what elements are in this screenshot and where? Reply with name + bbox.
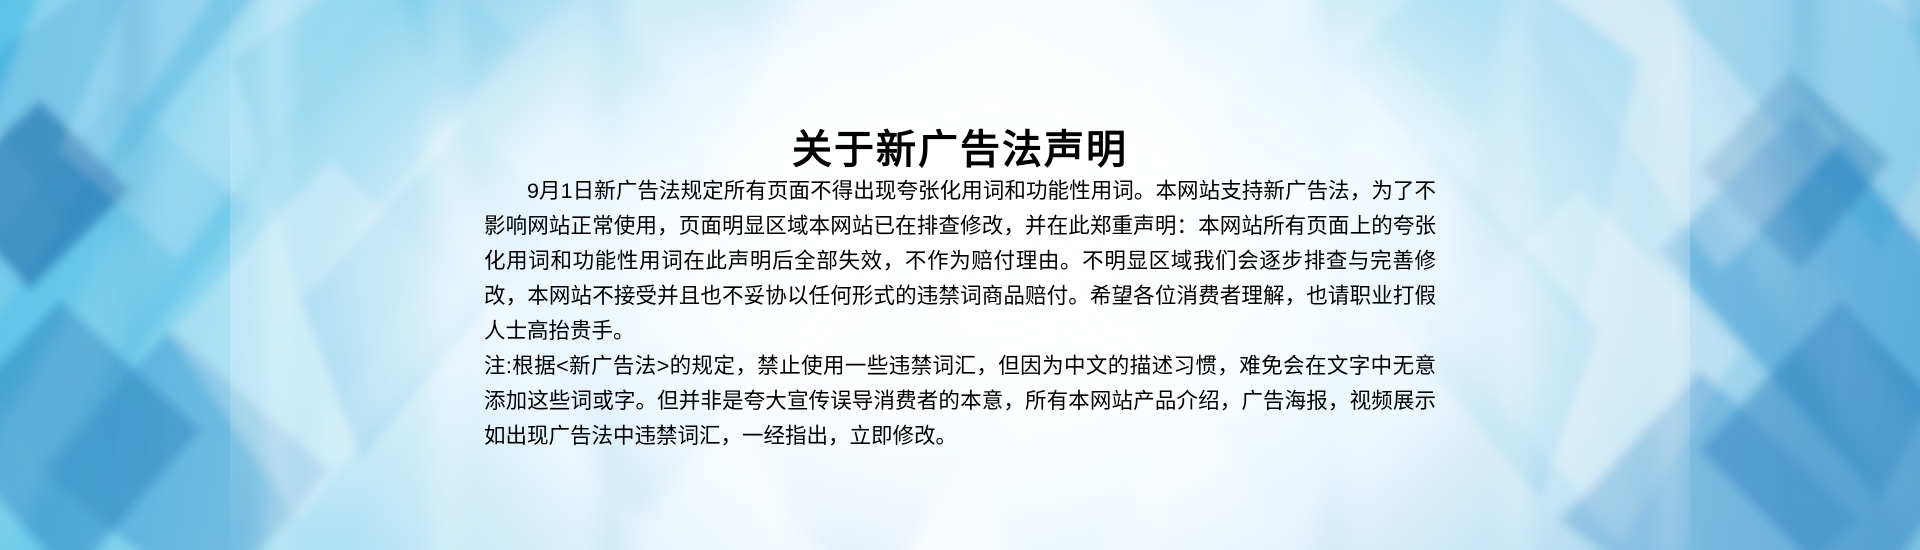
advertising-law-statement-banner: 关于新广告法声明 9月1日新广告法规定所有页面不得出现夸张化用词和功能性用词。本… xyxy=(0,0,1920,550)
statement-paragraph-note: 注:根据<新广告法>的规定，禁止使用一些违禁词汇，但因为中文的描述习惯，难免会在… xyxy=(484,349,1436,454)
statement-paragraph-body: 9月1日新广告法规定所有页面不得出现夸张化用词和功能性用词。本网站支持新广告法，… xyxy=(484,174,1436,349)
page-title: 关于新广告法声明 xyxy=(0,125,1920,175)
statement-text-block: 9月1日新广告法规定所有页面不得出现夸张化用词和功能性用词。本网站支持新广告法，… xyxy=(484,174,1436,454)
statement-content: 关于新广告法声明 9月1日新广告法规定所有页面不得出现夸张化用词和功能性用词。本… xyxy=(0,0,1920,550)
